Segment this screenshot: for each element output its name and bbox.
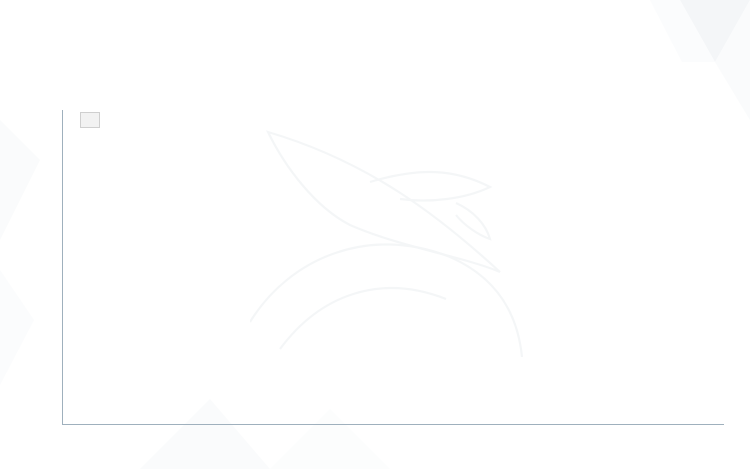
series-overlay xyxy=(62,110,722,424)
chart-legend xyxy=(80,112,100,128)
x-axis-line xyxy=(62,424,724,425)
chart-container xyxy=(0,92,750,469)
plot-area xyxy=(62,110,722,424)
